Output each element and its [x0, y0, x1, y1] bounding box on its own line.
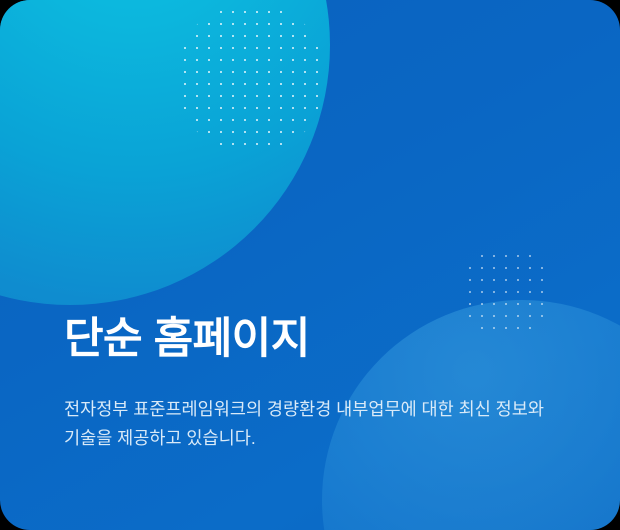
hero-subtitle: 전자정부 표준프레임워크의 경량환경 내부업무에 대한 최신 정보와 기술을 제… — [64, 395, 564, 452]
cyan-circle-decoration — [0, 0, 330, 305]
hero-banner: 단순 홈페이지 전자정부 표준프레임워크의 경량환경 내부업무에 대한 최신 정… — [0, 0, 620, 530]
hero-title: 단순 홈페이지 — [64, 316, 572, 363]
dot-grid-pattern-top — [143, 0, 359, 186]
hero-text-block: 단순 홈페이지 전자정부 표준프레임워크의 경량환경 내부업무에 대한 최신 정… — [64, 316, 572, 452]
